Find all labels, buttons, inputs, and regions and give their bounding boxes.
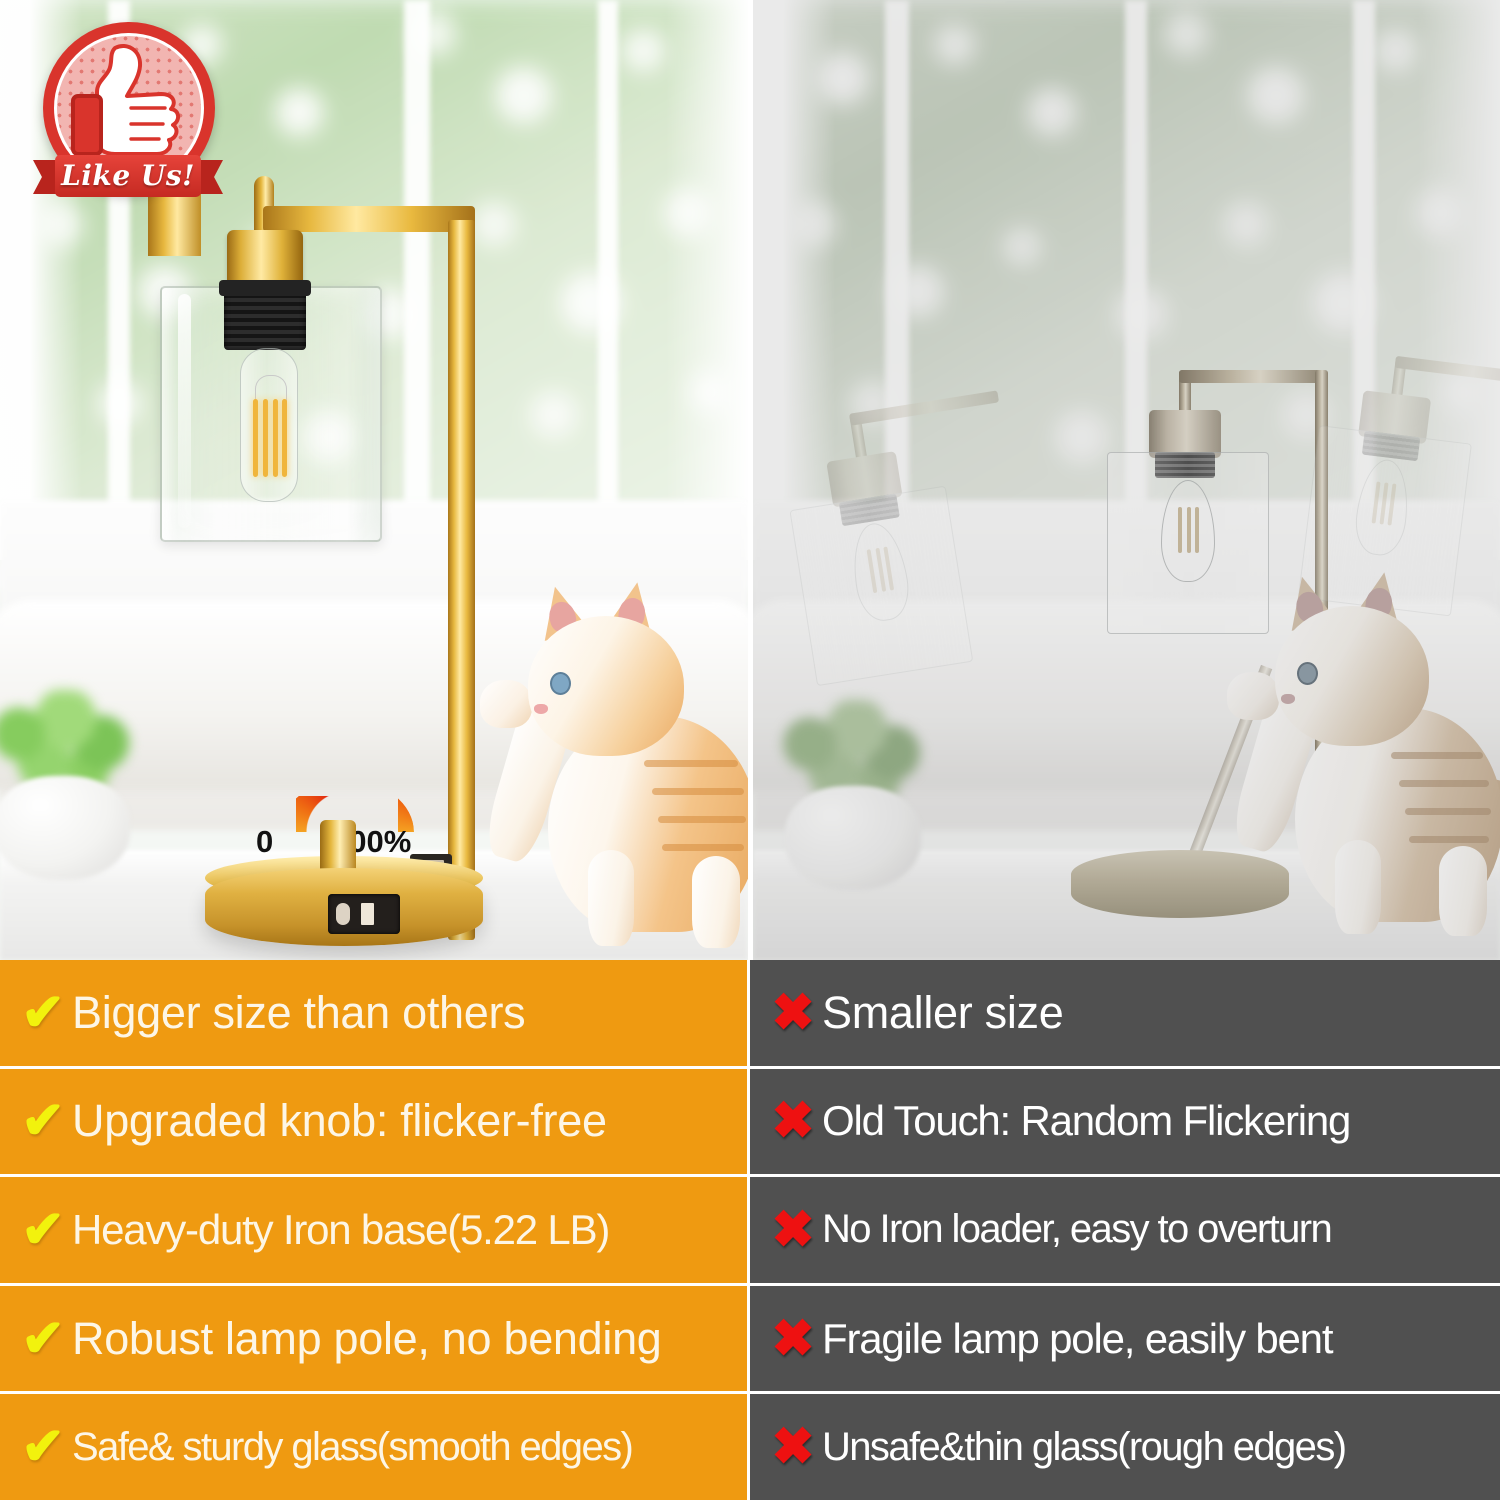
usb-c-port-icon — [336, 903, 350, 925]
con-row: ✖ Fragile lamp pole, easily bent — [750, 1286, 1500, 1395]
cross-icon: ✖ — [764, 1204, 822, 1256]
cat-hind-leg — [1439, 846, 1487, 936]
potted-plant — [0, 690, 152, 880]
con-row-label: Fragile lamp pole, easily bent — [822, 1315, 1332, 1363]
check-icon: ✔ — [14, 1204, 72, 1256]
bulb-filament — [1387, 483, 1396, 525]
con-row: ✖ Smaller size — [750, 960, 1500, 1069]
pro-row-label: Safe& sturdy glass(smooth edges) — [72, 1425, 632, 1470]
cat-eye — [1297, 662, 1318, 685]
cat-stripe — [1405, 808, 1491, 815]
pro-row-label: Bigger size than others — [72, 987, 525, 1039]
pro-row-label: Upgraded knob: flicker-free — [72, 1095, 607, 1147]
cat-paw — [1227, 672, 1279, 720]
pro-row: ✔ Safe& sturdy glass(smooth edges) — [0, 1394, 750, 1500]
pro-row: ✔ Robust lamp pole, no bending — [0, 1286, 750, 1395]
con-row: ✖ Unsafe&thin glass(rough edges) — [750, 1394, 1500, 1500]
pro-row: ✔ Upgraded knob: flicker-free — [0, 1069, 750, 1178]
bulb-filament — [273, 399, 278, 477]
competitor-product-photo — [753, 0, 1500, 960]
cross-icon: ✖ — [764, 1421, 822, 1473]
check-icon: ✔ — [14, 1313, 72, 1365]
cross-icon: ✖ — [764, 1095, 822, 1147]
dimmer-min-label: 0 — [256, 824, 273, 860]
bulb-filament — [263, 399, 268, 477]
lamp-arm — [263, 206, 475, 232]
badge-ribbon: Like Us! — [33, 146, 223, 208]
pro-row: ✔ Heavy-duty Iron base(5.22 LB) — [0, 1177, 750, 1286]
bulb-filament — [1187, 507, 1191, 553]
cross-icon: ✖ — [764, 1313, 822, 1365]
usb-a-port-icon — [361, 903, 374, 925]
cat-front-leg — [1335, 840, 1381, 934]
feature-comparison-table: ✔ Bigger size than others ✔ Upgraded kno… — [0, 960, 1500, 1500]
con-row-label: Old Touch: Random Flickering — [822, 1097, 1350, 1145]
badge-label: Like Us! — [55, 155, 201, 197]
check-icon: ✔ — [14, 1095, 72, 1147]
cat-head — [1275, 606, 1429, 746]
cross-icon: ✖ — [764, 987, 822, 1039]
con-row: ✖ Old Touch: Random Flickering — [750, 1069, 1500, 1178]
con-row-label: Smaller size — [822, 987, 1063, 1039]
bulb-filament — [1195, 507, 1199, 553]
cat-stripe — [662, 844, 744, 851]
room-scene — [753, 0, 1500, 960]
photo-comparison-area: 0 100% — [0, 0, 1500, 960]
plant-pot — [0, 776, 130, 880]
cat-stripe — [644, 760, 738, 767]
con-row: ✖ No Iron loader, easy to overturn — [750, 1177, 1500, 1286]
check-icon: ✔ — [14, 1421, 72, 1473]
bulb-filament — [1178, 507, 1182, 553]
cons-column: ✖ Smaller size ✖ Old Touch: Random Flick… — [750, 960, 1500, 1500]
con-row-label: No Iron loader, easy to overturn — [822, 1207, 1331, 1252]
usb-port-pair — [328, 894, 400, 934]
cat-stripe — [658, 816, 746, 823]
our-lamp: 0 100% — [148, 168, 578, 958]
pros-column: ✔ Bigger size than others ✔ Upgraded kno… — [0, 960, 750, 1500]
bulb-filament — [253, 399, 258, 477]
kitten — [1215, 576, 1500, 960]
lamp-arm — [1395, 356, 1500, 385]
cat-front-leg — [588, 850, 634, 946]
pro-row-label: Heavy-duty Iron base(5.22 LB) — [72, 1206, 609, 1254]
cat-hind-leg — [692, 856, 740, 948]
edison-bulb — [240, 348, 298, 502]
cat-stripe — [652, 788, 744, 795]
pro-row: ✔ Bigger size than others — [0, 960, 750, 1069]
filament-bridge — [255, 375, 287, 402]
con-row-label: Unsafe&thin glass(rough edges) — [822, 1425, 1345, 1470]
product-comparison-image: 0 100% — [0, 0, 1500, 1500]
cat-stripe — [1399, 780, 1489, 787]
wooden-cap — [1149, 410, 1221, 458]
bulb-filament — [282, 399, 287, 477]
bulb-socket — [224, 290, 306, 350]
cat-nose — [1281, 694, 1295, 704]
cat-stripe — [1391, 752, 1483, 759]
check-icon: ✔ — [14, 987, 72, 1039]
like-us-badge[interactable]: Like Us! — [33, 22, 223, 218]
cat-stripe — [1409, 836, 1489, 843]
pro-row-label: Robust lamp pole, no bending — [72, 1313, 662, 1365]
